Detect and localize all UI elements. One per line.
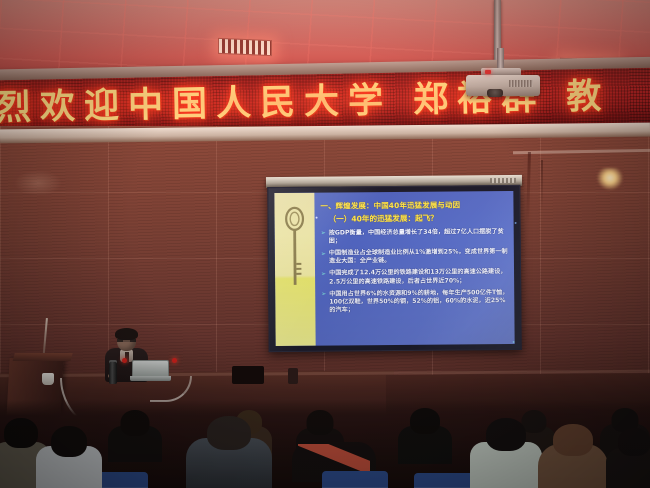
ceiling-light-fixture <box>218 38 272 56</box>
desk-equipment <box>232 366 264 384</box>
audience-head <box>410 408 440 434</box>
slide-bullet-text: 按GDP衡量，中国经济总量增长了34倍，超过7亿人口摆脱了贫困； <box>329 228 509 246</box>
key-icon <box>283 205 306 293</box>
slide-bullet: ➢ 中国用占世界6%的水资源和9%的耕地，每年生产500亿件T恤，100亿双鞋，… <box>321 289 509 316</box>
presenter-glasses-icon <box>117 339 136 342</box>
projector-status-led-icon <box>485 70 491 74</box>
projector-lens-icon <box>487 89 503 97</box>
audience-head <box>486 418 526 451</box>
slide-bullet: ➢ 中国完成了12.4万公里的铁路建设和13万公里的高速公路建设，2.5万公里的… <box>321 268 509 286</box>
slide-decor-dot <box>316 217 318 219</box>
screen-indicator-dot <box>513 341 515 343</box>
wall-stain <box>541 160 543 210</box>
slide-subtitle: （一）40年的迅猛发展：起飞？ <box>329 213 509 224</box>
cup <box>42 373 54 385</box>
audience-member <box>36 426 102 488</box>
slide-bullet: ➢ 中国制造业占全球制造业比例从1%激增到25%，变成世界第一制造业大国：全产业… <box>321 248 509 266</box>
audience-member <box>470 418 542 488</box>
audience-member <box>108 410 162 462</box>
slide-sidebar <box>274 193 315 346</box>
audience-member <box>398 408 452 464</box>
audience-head <box>207 416 251 450</box>
slide-bullet-text: 中国用占世界6%的水资源和9%的耕地，每年生产500亿件T恤，100亿双鞋，世界… <box>329 289 509 316</box>
laptop-screen <box>132 360 169 377</box>
projector-vent <box>509 80 533 87</box>
audience-member <box>606 428 650 488</box>
wall-lamp-glow <box>597 168 623 190</box>
podium-top <box>13 353 73 361</box>
screen-indicator-dot <box>515 222 517 224</box>
wall-light-spot <box>14 170 62 196</box>
audience-member <box>186 416 272 488</box>
audience-head <box>618 428 650 456</box>
slide-body: 一、辉煌发展：中国40年迅猛发展与动因 （一）40年的迅猛发展：起飞？ ➢ 按G… <box>314 191 514 346</box>
audience-head <box>553 424 593 456</box>
audience-head <box>121 410 150 436</box>
audience-head <box>51 426 87 457</box>
indicator-light-icon <box>172 358 177 363</box>
screen-housing-cap <box>490 178 516 183</box>
audience-member <box>538 424 608 488</box>
bullet-marker-icon: ➢ <box>321 270 326 287</box>
audience-seat[interactable] <box>322 471 388 488</box>
bullet-marker-icon: ➢ <box>321 250 326 267</box>
bullet-marker-icon: ➢ <box>321 229 326 246</box>
slide-bullet-text: 中国完成了12.4万公里的铁路建设和13万公里的高速公路建设，2.5万公里的高速… <box>329 268 509 286</box>
projector-pole <box>497 48 504 70</box>
lecture-hall-scene: 烈欢迎中国人民大学 郑裕群 教 <box>0 0 650 488</box>
slide-title: 一、辉煌发展：中国40年迅猛发展与动因 <box>320 200 508 211</box>
desk-equipment <box>288 368 298 384</box>
slide-bullet-text: 中国制造业占全球制造业比例从1%激增到25%，变成世界第一制造业大国：全产业链。 <box>329 248 509 266</box>
projection-screen: 一、辉煌发展：中国40年迅猛发展与动因 （一）40年的迅猛发展：起飞？ ➢ 按G… <box>267 185 521 352</box>
audience-seating <box>0 400 650 488</box>
ceiling-projector <box>461 58 545 98</box>
bullet-marker-icon: ➢ <box>321 290 326 315</box>
slide-bullet: ➢ 按GDP衡量，中国经济总量增长了34倍，超过7亿人口摆脱了贫困； <box>321 228 509 246</box>
presentation-slide: 一、辉煌发展：中国40年迅猛发展与动因 （一）40年的迅猛发展：起飞？ ➢ 按G… <box>274 191 514 346</box>
indicator-light-icon <box>122 358 127 363</box>
audience-head <box>4 418 38 448</box>
audience-seat[interactable] <box>414 473 476 488</box>
